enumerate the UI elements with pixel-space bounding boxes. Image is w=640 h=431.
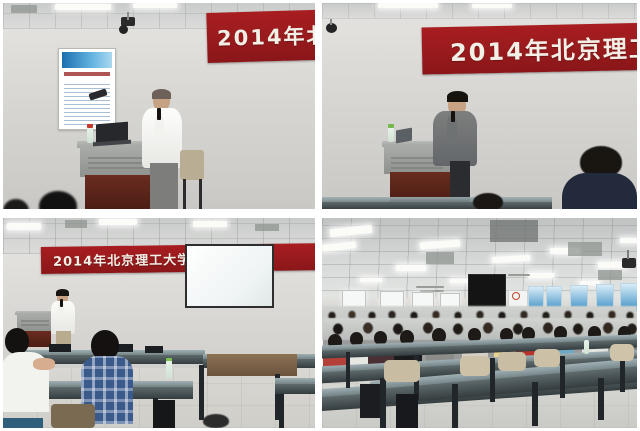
student-head [5, 328, 29, 354]
chair [51, 404, 95, 428]
event-banner: 2014年北京理工 [422, 22, 637, 74]
pc-tower [396, 394, 418, 428]
ceiling-projector [622, 258, 636, 268]
speaker-hair [152, 89, 171, 99]
chair [534, 349, 560, 367]
ceiling-light [99, 219, 137, 225]
microphone [157, 108, 161, 120]
water-bottle [584, 340, 589, 354]
desk-leg [199, 365, 204, 420]
desk [275, 384, 315, 394]
photo-bottom-right[interactable] [322, 218, 637, 428]
bottle-cap [166, 358, 172, 361]
speaker-hair [56, 289, 69, 296]
ceiling-light [7, 223, 41, 230]
chair [498, 352, 526, 371]
ceiling-light [378, 3, 438, 8]
microphone [60, 299, 63, 307]
monitor [145, 346, 163, 353]
water-bottle [87, 126, 93, 143]
desk-leg [560, 356, 565, 398]
chair [384, 360, 420, 382]
bottle-cap [87, 124, 93, 128]
desk-leg [380, 378, 386, 428]
microphone [451, 111, 455, 122]
ceiling-camera-icon [119, 25, 128, 34]
ceiling-fan [416, 286, 444, 288]
wall-poster [58, 48, 116, 130]
photo-collage: 2014年北京 [0, 0, 640, 431]
photo-bottom-left[interactable]: 2014年北京理工大学 科技创新 [3, 218, 315, 428]
wooden-table [207, 354, 297, 376]
chair [460, 356, 490, 376]
ceiling-vent [255, 224, 279, 231]
ceiling-vent [490, 220, 538, 242]
water-bottle [388, 127, 394, 142]
event-banner-text: 2014年北京 [217, 19, 315, 53]
event-banner-text: 2014年北京理工 [450, 29, 637, 68]
speaker-hair [447, 91, 468, 102]
water-bottle [166, 360, 172, 378]
fluorescent-light [360, 278, 382, 282]
student-head [203, 414, 229, 428]
desk-leg [452, 384, 458, 428]
ceiling-light [472, 4, 512, 8]
chair [180, 150, 204, 180]
photo-top-left[interactable]: 2014年北京 [3, 3, 315, 209]
bottle-cap [388, 124, 394, 128]
camera-mount [330, 19, 332, 25]
podium-base [85, 175, 159, 209]
ceiling-vent [598, 270, 622, 280]
wall-sign [512, 292, 520, 300]
camera-mount [127, 12, 129, 20]
projector-mount [627, 250, 629, 259]
ceiling-light [193, 221, 227, 227]
pc-tower [360, 384, 380, 418]
ceiling-vent [568, 242, 602, 256]
ceiling-vent [11, 5, 37, 13]
photo-top-right[interactable]: 2014年北京理工 [322, 3, 637, 209]
student-arm [33, 358, 55, 370]
fluorescent-light [620, 238, 637, 243]
chair [610, 344, 634, 361]
pc-tower [153, 400, 175, 428]
ceiling-vent [426, 252, 454, 264]
monitor [49, 344, 71, 352]
projection-screen [185, 244, 274, 308]
desk-leg [490, 358, 495, 402]
ceiling-light [133, 3, 177, 8]
student-shoulder [3, 418, 43, 428]
chair-leg [183, 179, 186, 209]
audience-silhouette [473, 193, 503, 209]
speaker-trousers [150, 163, 178, 209]
ceiling-light [55, 4, 111, 10]
fluorescent-light [528, 273, 554, 278]
desk-leg [279, 394, 284, 428]
ceiling-vent [65, 220, 87, 228]
audience-silhouette [562, 173, 637, 209]
event-banner: 2014年北京 [206, 9, 315, 63]
chair-leg [199, 179, 202, 209]
desk-leg [598, 378, 604, 420]
desk [322, 202, 552, 209]
fluorescent-light [396, 265, 426, 271]
desk-leg [532, 382, 538, 426]
desk-leg [346, 352, 350, 388]
ceiling-fan [508, 274, 530, 276]
